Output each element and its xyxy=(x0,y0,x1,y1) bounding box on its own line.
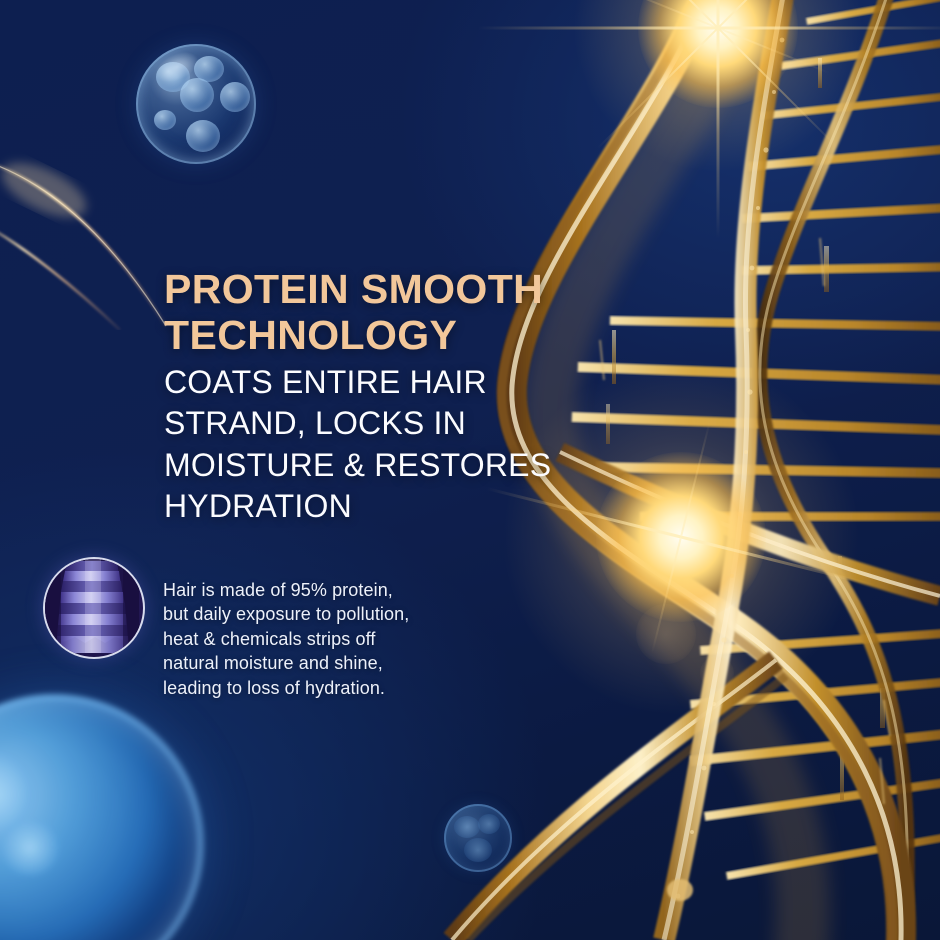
flare-ghost-icon xyxy=(636,604,696,664)
hair-cuticle-microscope-icon xyxy=(43,557,145,659)
water-droplet-bubble-top-icon xyxy=(136,44,256,164)
page-title: PROTEIN SMOOTH TECHNOLOGY xyxy=(164,267,594,357)
water-droplet-bubble-small-icon xyxy=(444,804,512,872)
body-copy: Hair is made of 95% protein, but daily e… xyxy=(163,578,483,700)
product-claim-banner: PROTEIN SMOOTH TECHNOLOGY COATS ENTIRE H… xyxy=(0,0,940,940)
page-subtitle: COATS ENTIRE HAIR STRAND, LOCKS IN MOIST… xyxy=(164,362,564,528)
flare-ghost-icon xyxy=(700,656,734,690)
